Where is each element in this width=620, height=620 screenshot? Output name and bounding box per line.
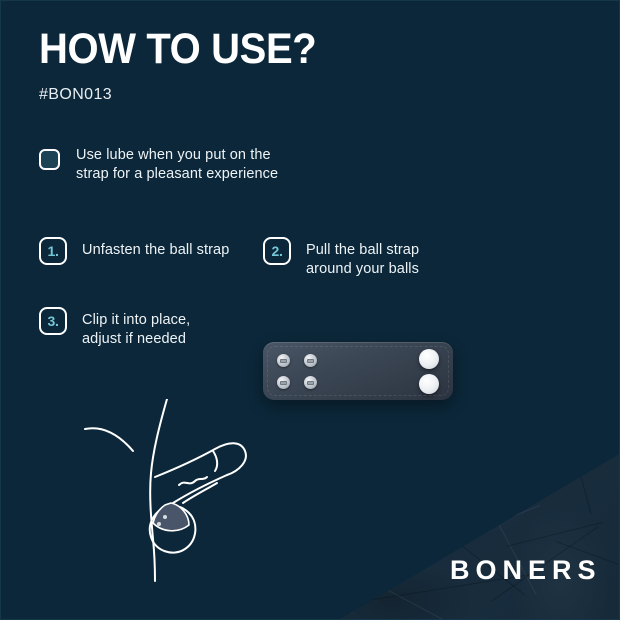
anatomy-line-drawing — [79, 399, 279, 584]
illustration-strap — [153, 503, 189, 531]
lube-drop-icon — [39, 149, 60, 170]
step-1-line-1: Unfasten the ball strap — [82, 241, 229, 260]
brand-logo: BONERS — [450, 555, 602, 586]
strap-stud-icon — [277, 354, 290, 367]
step-item-3: 3. Clip it into place, adjust if needed — [39, 307, 249, 349]
illustration-strap-stud-icon — [163, 515, 167, 519]
step-number-badge-2: 2. — [263, 237, 291, 265]
step-text-3: Clip it into place, adjust if needed — [82, 307, 190, 349]
strap-snap-icon — [419, 374, 439, 394]
step-3-line-1: Clip it into place, — [82, 311, 190, 330]
step-item-2: 2. Pull the ball strap around your balls — [263, 237, 463, 279]
step-number-badge-3: 3. — [39, 307, 67, 335]
step-number-badge-1: 1. — [39, 237, 67, 265]
step-text-2: Pull the ball strap around your balls — [306, 237, 419, 279]
step-item-1: 1. Unfasten the ball strap — [39, 237, 249, 265]
lube-tip: Use lube when you put on the strap for a… — [39, 146, 339, 184]
illustration-strap-stud-icon — [157, 522, 161, 526]
step-2-line-1: Pull the ball strap — [306, 241, 419, 260]
strap-snap-icon — [419, 349, 439, 369]
strap-stud-icon — [304, 354, 317, 367]
step-text-1: Unfasten the ball strap — [82, 237, 229, 260]
ball-strap-product-photo — [263, 342, 453, 400]
strap-stud-icon — [277, 376, 290, 389]
step-3-line-2: adjust if needed — [82, 330, 190, 349]
strap-stud-icon — [304, 376, 317, 389]
lube-tip-line-1: Use lube when you put on the — [76, 146, 278, 165]
illustration-strap-tail — [183, 483, 217, 503]
lube-tip-text: Use lube when you put on the strap for a… — [76, 146, 278, 184]
step-2-line-2: around your balls — [306, 260, 419, 279]
product-code: #BON013 — [39, 85, 112, 105]
page-title: HOW TO USE? — [39, 27, 316, 71]
lube-tip-line-2: strap for a pleasant experience — [76, 165, 278, 184]
how-to-use-poster: HOW TO USE? #BON013 Use lube when you pu… — [0, 0, 620, 620]
